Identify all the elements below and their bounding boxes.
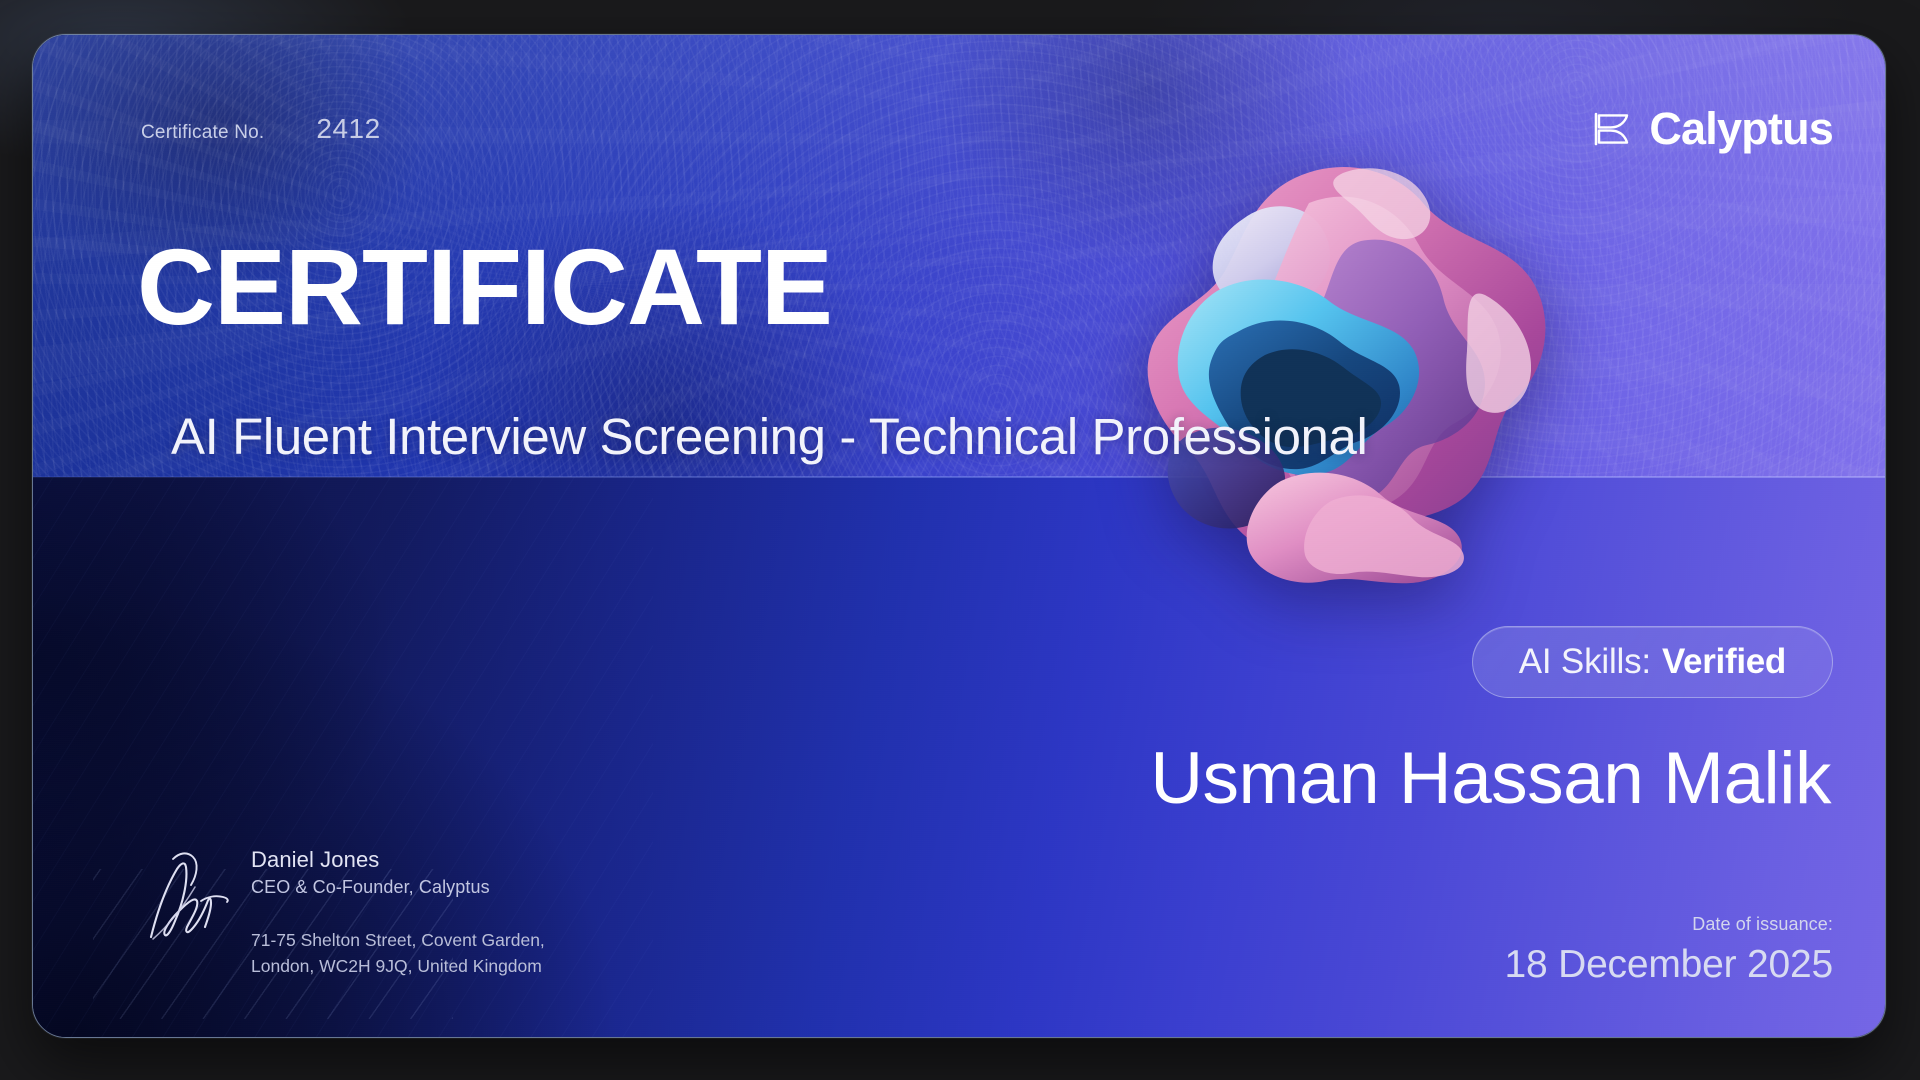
status-badge-label: AI Skills: [1519,642,1651,682]
address-line-1: 71-75 Shelton Street, Covent Garden, [251,928,545,953]
signer-name: Daniel Jones [251,847,545,873]
issuance-date: 18 December 2025 [1504,943,1833,987]
certificate-number: Certificate No. 2412 [141,113,381,145]
signature-block: Daniel Jones CEO & Co-Founder, Calyptus … [143,819,545,979]
recipient-name: Usman Hassan Malik [1150,737,1831,820]
handwritten-signature-icon [143,841,235,951]
issuance-label: Date of issuance: [1504,914,1833,935]
certificate-number-label: Certificate No. [141,122,264,144]
certificate-number-value: 2412 [316,113,380,145]
signer-role: CEO & Co-Founder, Calyptus [251,877,545,898]
company-address: 71-75 Shelton Street, Covent Garden, Lon… [251,928,545,979]
certificate-subtitle: AI Fluent Interview Screening - Technica… [171,409,1367,465]
status-badge-value: Verified [1662,642,1786,682]
signature-text: Daniel Jones CEO & Co-Founder, Calyptus … [251,819,545,979]
issuance-block: Date of issuance: 18 December 2025 [1504,914,1833,987]
certificate-card: Certificate No. 2412 Calyptus CERTIFICAT… [32,34,1886,1038]
address-line-2: London, WC2H 9JQ, United Kingdom [251,954,545,979]
band-divider [33,476,1885,478]
calyptus-leaf-logo-icon [1593,112,1633,146]
screen-backdrop: Certificate No. 2412 Calyptus CERTIFICAT… [0,0,1920,1080]
brand-wordmark: Calyptus [1649,103,1833,155]
certificate-title: CERTIFICATE [137,233,832,341]
brand-logo[interactable]: Calyptus [1593,103,1833,155]
status-badge[interactable]: AI Skills: Verified [1472,626,1833,698]
